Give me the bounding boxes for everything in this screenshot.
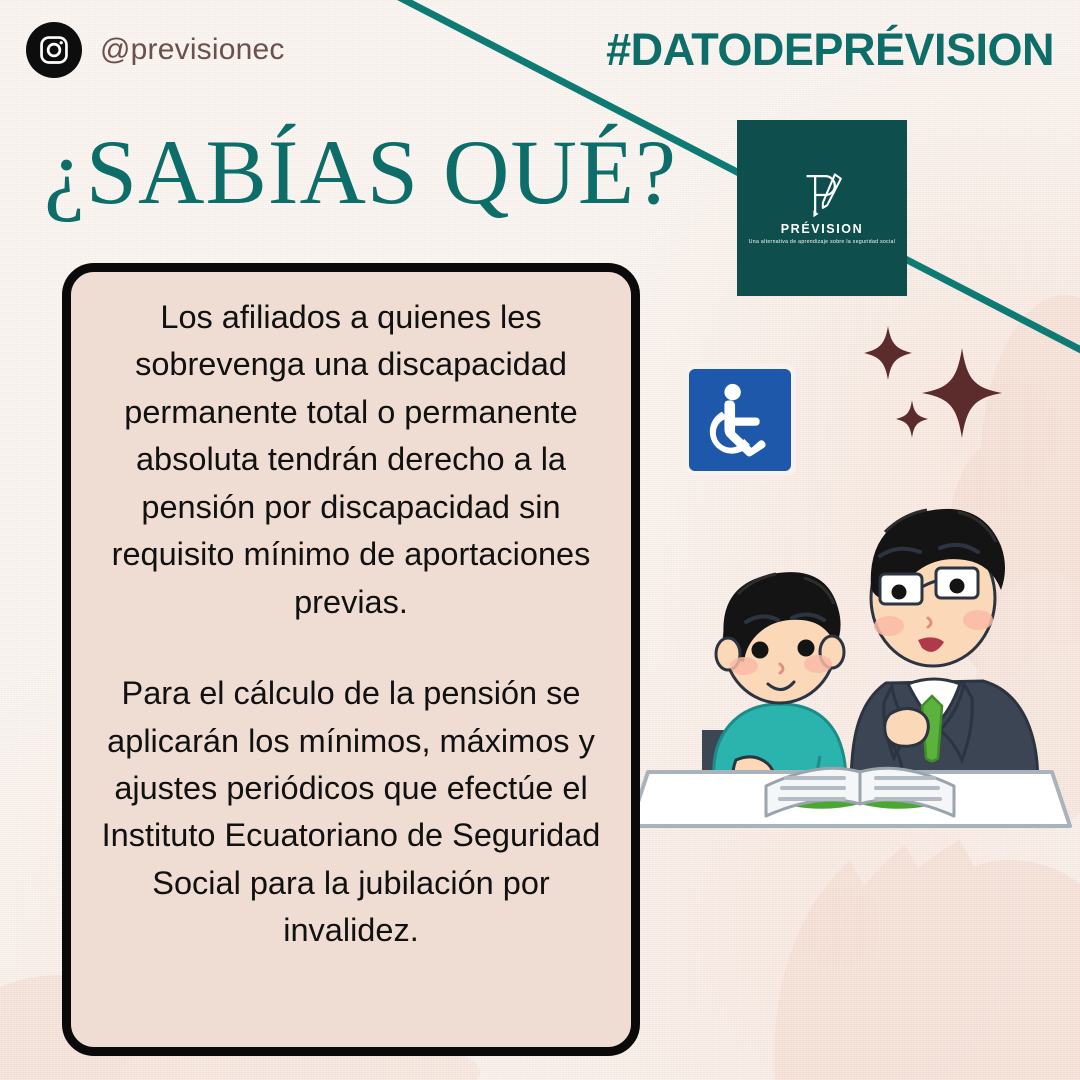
instagram-handle: @previsionec — [100, 33, 285, 67]
logo-wordmark: PRÉVISION — [781, 223, 863, 236]
sparkle-stars-decoration — [850, 318, 1040, 468]
hashtag-label: #DATODEPRÉVISION — [606, 24, 1054, 76]
fact-text-card: Los afiliados a quienes les sobrevenga u… — [62, 263, 640, 1056]
logo-tagline: Una alternativa de aprendizaje sobre la … — [749, 239, 895, 245]
instagram-row: @previsionec — [26, 22, 285, 78]
wheelchair-accessibility-icon — [689, 369, 791, 471]
wheelchair-accessibility-sign — [684, 364, 796, 476]
man-and-boy-reading-book-illustration — [640, 468, 1080, 843]
fact-paragraph-1: Los afiliados a quienes les sobrevenga u… — [97, 294, 605, 626]
fact-paragraph-2: Para el cálculo de la pensión se aplicar… — [97, 670, 605, 955]
p-pencil-monogram-icon — [796, 171, 848, 219]
poster-canvas: @previsionec #DATODEPRÉVISION ¿SABÍAS QU… — [0, 0, 1080, 1080]
instagram-icon[interactable] — [26, 22, 82, 78]
brand-logo-card: PRÉVISION Una alternativa de aprendizaje… — [737, 120, 907, 296]
page-title: ¿SABÍAS QUÉ? — [44, 126, 677, 218]
